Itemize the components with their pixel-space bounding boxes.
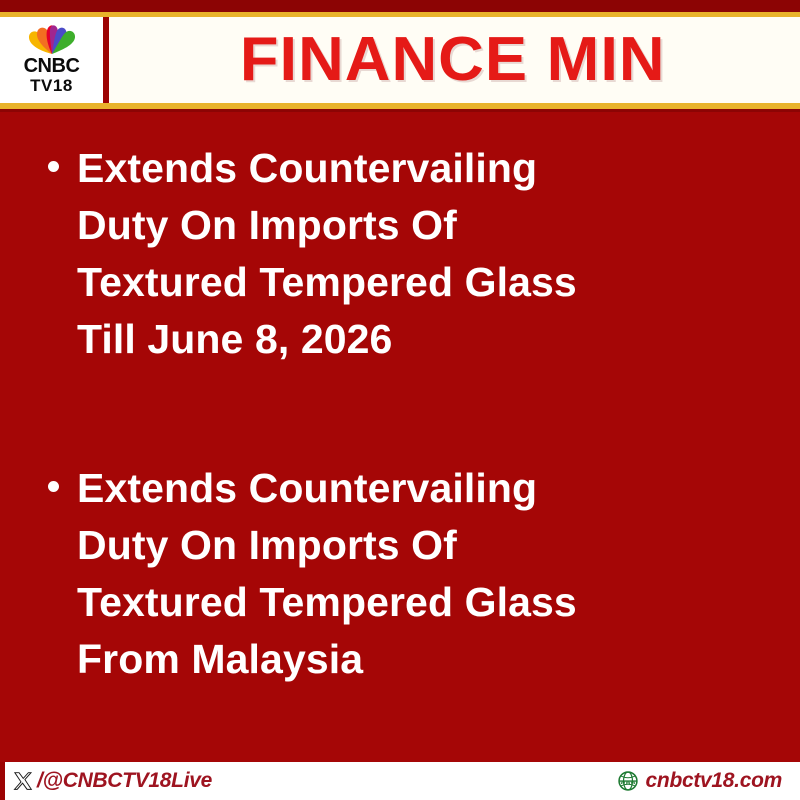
globe-www-label: www [619, 779, 636, 786]
x-twitter-icon[interactable] [13, 771, 33, 791]
www-globe-icon[interactable]: www [617, 770, 639, 792]
header: CNBC TV18 FINANCE MIN [0, 0, 800, 112]
nbc-peacock-icon [26, 24, 78, 55]
header-band: CNBC TV18 FINANCE MIN [0, 12, 800, 109]
website-group[interactable]: www cnbctv18.com [617, 769, 782, 793]
footer: /@CNBCTV18Live www cnbctv18.com [0, 762, 800, 800]
website-text: cnbctv18.com [646, 769, 782, 793]
channel-logo[interactable]: CNBC TV18 [0, 17, 103, 103]
bullet-text: Extends Countervailing Duty On Imports O… [77, 140, 760, 368]
list-item: Extends Countervailing Duty On Imports O… [40, 460, 760, 688]
social-handle-group[interactable]: /@CNBCTV18Live [13, 769, 212, 793]
bullet-dot-icon [48, 161, 59, 172]
bullet-list: Extends Countervailing Duty On Imports O… [40, 140, 760, 688]
logo-cnbc-text: CNBC [24, 56, 80, 76]
headline-container: FINANCE MIN [109, 17, 800, 103]
social-handle-text: /@CNBCTV18Live [37, 769, 212, 793]
news-card: CNBC TV18 FINANCE MIN Extends Countervai… [0, 0, 800, 800]
logo-tv18-text: TV18 [30, 76, 73, 96]
main-content: Extends Countervailing Duty On Imports O… [0, 112, 800, 762]
bullet-dot-icon [48, 481, 59, 492]
page-title: FINANCE MIN [240, 29, 666, 91]
list-item: Extends Countervailing Duty On Imports O… [40, 140, 760, 368]
bullet-text: Extends Countervailing Duty On Imports O… [77, 460, 760, 688]
